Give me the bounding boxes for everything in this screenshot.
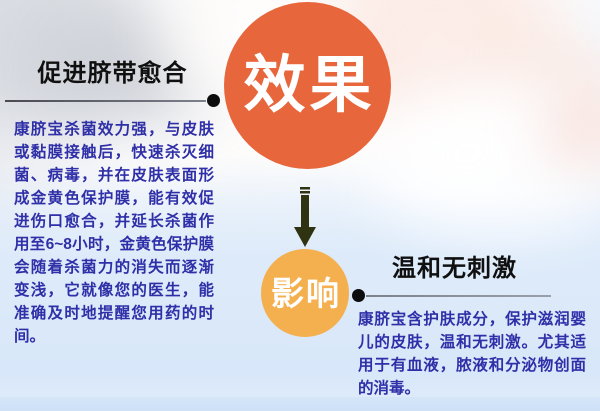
down-arrow-icon xyxy=(293,187,317,249)
heading-rule-line-right xyxy=(366,295,551,297)
impact-circle: 影响 xyxy=(261,249,349,337)
section-heading-heal-navel: 促进脐带愈合 xyxy=(5,60,220,108)
section-title-gentle-nonirritating: 温和无刺激 xyxy=(352,255,557,283)
impact-circle-label: 影响 xyxy=(269,277,341,310)
heading-rule-left xyxy=(5,94,220,108)
section-heading-gentle-nonirritating: 温和无刺激 xyxy=(352,255,557,303)
section-body-heal-navel: 康脐宝杀菌效力强，与皮肤或黏膜接触后，快速杀灭细菌、病毒，并在皮肤表面形成金黄色… xyxy=(14,118,214,348)
effect-circle-label: 效果 xyxy=(239,55,375,117)
effect-circle: 效果 xyxy=(224,2,391,169)
section-body-gentle-nonirritating: 康脐宝含护肤成分，保护滋润婴儿的皮肤，温和无刺激。尤其适用于有血液，脓液和分泌物… xyxy=(358,308,586,400)
background-blob-blanket xyxy=(360,78,600,248)
infographic-poster: 效果 影响 促进脐带愈合 康脐宝杀菌效力强，与皮肤或黏膜接触后，快速杀灭细菌、病… xyxy=(0,0,600,411)
heading-rule-dot-right xyxy=(352,289,365,302)
heading-rule-right xyxy=(352,289,557,303)
heading-rule-line-left xyxy=(5,100,206,102)
background-blob-baby-cheek xyxy=(480,40,600,190)
heading-rule-dot-left xyxy=(207,94,220,107)
background-blob-pink xyxy=(540,88,600,168)
section-title-heal-navel: 促进脐带愈合 xyxy=(5,60,220,88)
